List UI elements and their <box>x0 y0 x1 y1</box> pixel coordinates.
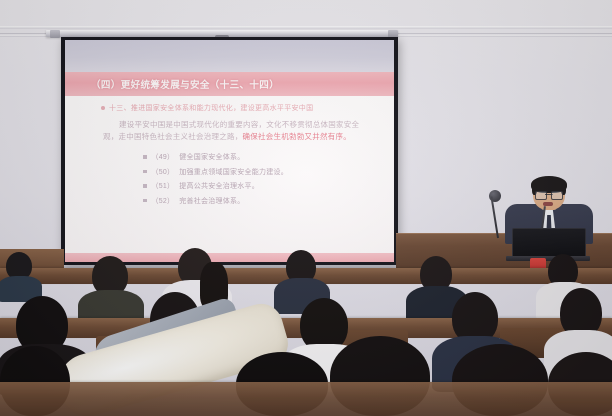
ceiling-edge <box>0 26 612 29</box>
slide-top-band <box>65 40 394 72</box>
square-bullet-icon <box>143 155 147 159</box>
square-bullet-icon <box>143 199 147 203</box>
projection-screen: （四）更好统筹发展与安全（十三、十四） 十三、推进国家安全体系和能力现代化，建设… <box>61 37 398 265</box>
list-item: （51） 提高公共安全治理水平。 <box>143 181 380 191</box>
list-item: （50） 加强重点领域国家安全能力建设。 <box>143 167 380 177</box>
sub-item-number: （52） <box>152 196 175 206</box>
square-bullet-icon <box>143 184 147 188</box>
audience-desk-front <box>0 382 612 416</box>
sub-item-number: （51） <box>152 181 175 191</box>
eyeglasses-icon <box>535 191 563 198</box>
glasses-lens-left <box>535 191 547 200</box>
square-bullet-icon <box>143 170 147 174</box>
lecture-hall-photo: （四）更好统筹发展与安全（十三、十四） 十三、推进国家安全体系和能力现代化，建设… <box>0 0 612 416</box>
slide-title-bar: （四）更好统筹发展与安全（十三、十四） <box>65 72 394 96</box>
sub-item-number: （49） <box>152 152 175 162</box>
slide-sub-item-list: （49） 健全国家安全体系。 （50） 加强重点领域国家安全能力建设。 （51）… <box>143 152 380 206</box>
slide-paragraph-highlight: 确保社会生机勃勃又井然有序。 <box>243 132 352 141</box>
projection-surface: （四）更好统筹发展与安全（十三、十四） 十三、推进国家安全体系和能力现代化，建设… <box>65 40 394 262</box>
slide-paragraph: 建设平安中国是中国式现代化的重要内容，文化不移贯彻总体国家安全观，走中国特色社会… <box>103 119 374 143</box>
slide-title: （四）更好统筹发展与安全（十三、十四） <box>91 77 279 91</box>
bullet-dot-icon <box>101 106 105 110</box>
housing-bracket-left <box>50 30 60 38</box>
sub-item-text: 健全国家安全体系。 <box>179 152 244 162</box>
sub-item-text: 提高公共安全治理水平。 <box>179 181 259 191</box>
slide-lead-bullet-text: 十三、推进国家安全体系和能力现代化，建设更高水平平安中国 <box>109 103 313 113</box>
laptop-base <box>506 256 590 261</box>
sub-item-number: （50） <box>152 167 175 177</box>
slide-lead-bullet-line: 十三、推进国家安全体系和能力现代化，建设更高水平平安中国 <box>101 103 380 113</box>
slide-body: 十三、推进国家安全体系和能力现代化，建设更高水平平安中国 建设平安中国是中国式现… <box>65 96 394 262</box>
list-item: （49） 健全国家安全体系。 <box>143 152 380 162</box>
sub-item-text: 完善社会治理体系。 <box>179 196 244 206</box>
list-item: （52） 完善社会治理体系。 <box>143 196 380 206</box>
presentation-slide: （四）更好统筹发展与安全（十三、十四） 十三、推进国家安全体系和能力现代化，建设… <box>65 40 394 262</box>
glasses-lens-right <box>551 191 563 200</box>
sub-item-text: 加强重点领域国家安全能力建设。 <box>179 167 288 177</box>
